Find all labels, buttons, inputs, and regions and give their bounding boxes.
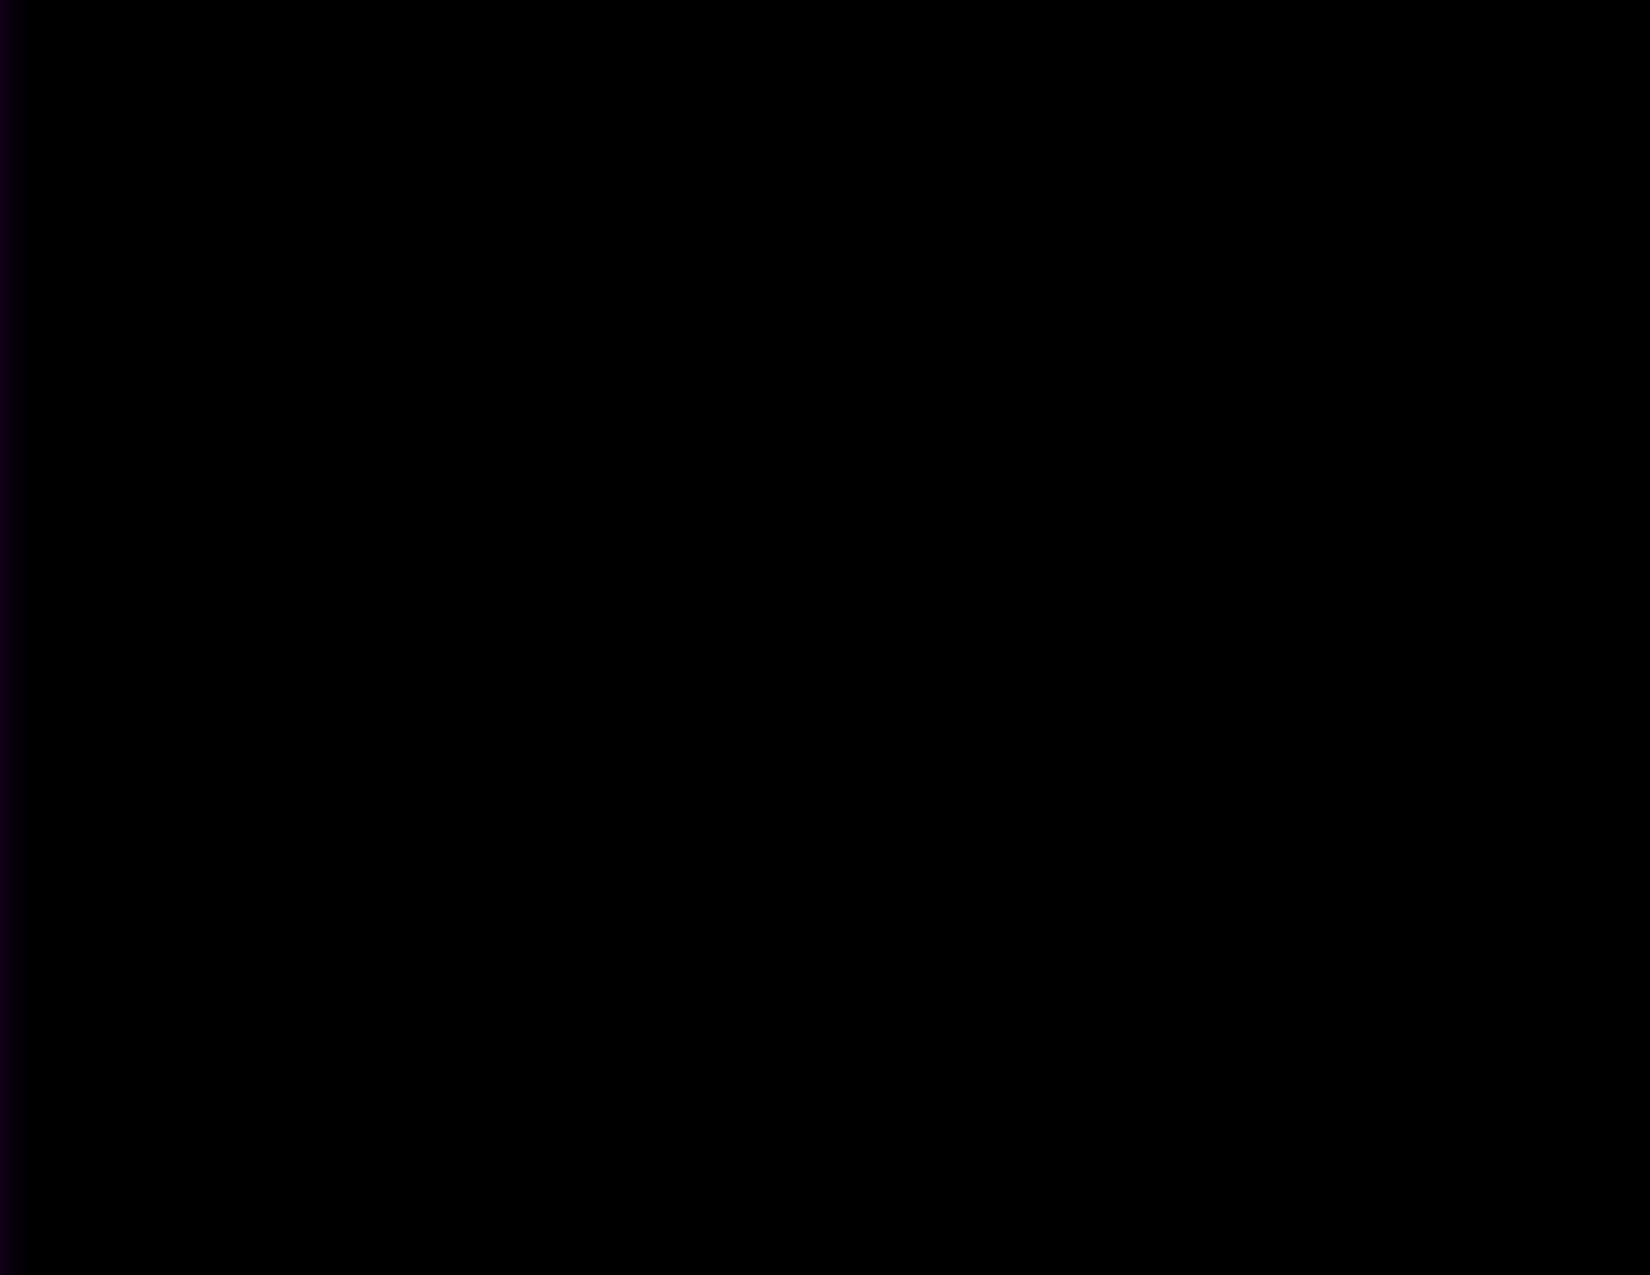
verse-text: Like tangled thorns, And like those who … — [89, 119, 1509, 467]
verse-attribution: — Nahum 1:10 (NASB®) — [89, 464, 1509, 557]
registered-trademark-icon: ® — [1454, 484, 1484, 530]
text-layer: Like tangled thorns, And like those who … — [27, 14, 1635, 1230]
attribution-em-dash: — — [652, 469, 730, 557]
slide-canvas: Like tangled thorns, And like those who … — [27, 14, 1635, 1230]
slide-frame: Like tangled thorns, And like those who … — [0, 0, 1650, 1275]
attribution-close-paren: ) — [1484, 469, 1509, 557]
attribution-reference: Nahum 1:10 (NASB — [751, 469, 1454, 557]
